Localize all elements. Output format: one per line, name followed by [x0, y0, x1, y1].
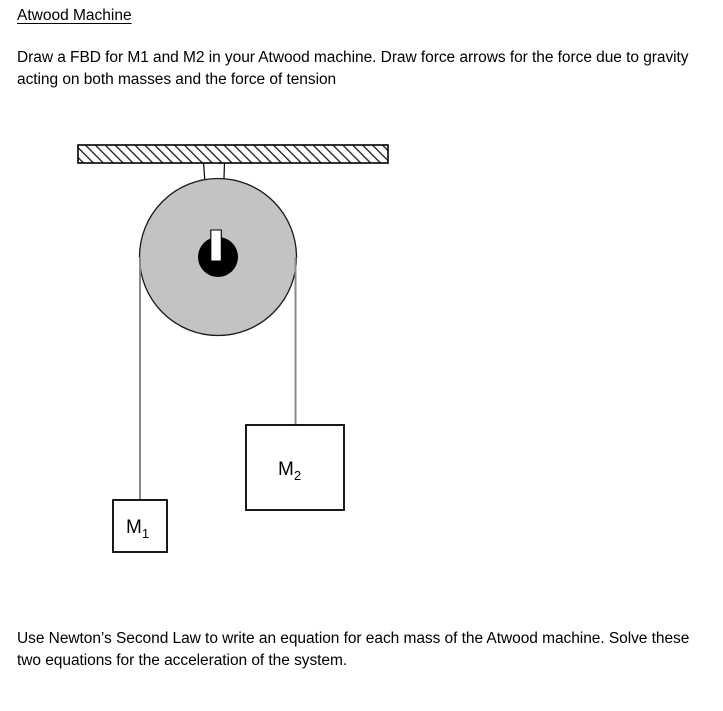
pulley-mount-bracket-tip	[211, 230, 222, 261]
mass-box-m1: M1	[113, 500, 167, 552]
instructions-top-paragraph: Draw a FBD for M1 and M2 in your Atwood …	[17, 47, 703, 90]
worksheet-page: Atwood Machine Draw a FBD for M1 and M2 …	[0, 0, 723, 711]
mass-box-m2: M2	[246, 425, 344, 510]
ceiling-support	[78, 145, 388, 163]
instructions-bottom-paragraph: Use Newton’s Second Law to write an equa…	[17, 628, 703, 671]
atwood-machine-diagram: M2 M1	[0, 120, 460, 580]
page-title: Atwood Machine	[17, 6, 132, 26]
